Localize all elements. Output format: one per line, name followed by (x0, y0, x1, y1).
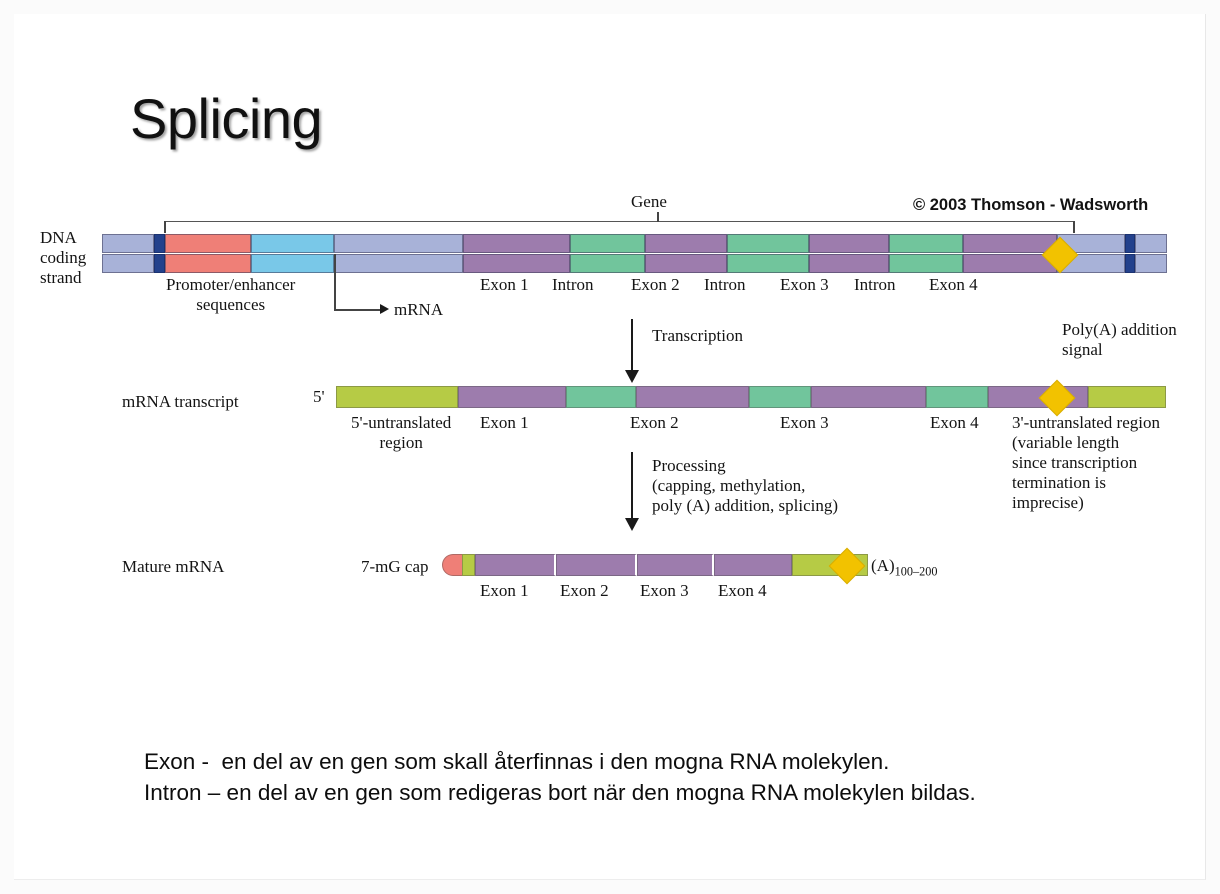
dna-seg-exon-4 (963, 234, 1057, 253)
dna-seg-5utr (251, 234, 334, 253)
dna2-seg-intron-3 (889, 254, 963, 273)
transcript-label-exon-2: Exon 2 (630, 413, 679, 433)
mrna-transcript-row-label: mRNA transcript (122, 392, 239, 412)
dna-label-exon-4: Exon 4 (929, 275, 978, 295)
dna-strand-top (102, 234, 1167, 253)
splicing-diagram: © 2003 Thomson - Wadsworth DNA coding st… (14, 184, 1206, 624)
caption-line-exon: Exon - en del av en gen som skall återfi… (144, 746, 976, 777)
mature-label-exon-2: Exon 2 (560, 581, 609, 601)
transcript-seg-3utr (1088, 386, 1166, 408)
cap-label: 7-mG cap (361, 557, 429, 577)
mature-mrna-row-label: Mature mRNA (122, 557, 224, 577)
dna-label-exon-3: Exon 3 (780, 275, 829, 295)
copyright-notice: © 2003 Thomson - Wadsworth (913, 196, 1148, 215)
dna-label-exon-1: Exon 1 (480, 275, 529, 295)
dna2-seg-leader (334, 254, 463, 273)
dna-seg-intron-2 (727, 234, 809, 253)
dna-seg-exon-2 (645, 234, 727, 253)
dna-seg-terminator (1125, 234, 1135, 253)
utr3-label: 3'-untranslated region (variable length … (1012, 413, 1160, 513)
dna2-seg-exon-2 (645, 254, 727, 273)
dna-strand-bottom (102, 254, 1167, 273)
caption-block: Exon - en del av en gen som skall återfi… (144, 746, 976, 808)
transcript-seg-exon-1 (458, 386, 566, 408)
dna2-seg-tss-marker (154, 254, 165, 273)
dna-seg-intron-3 (889, 234, 963, 253)
transcript-label-exon-4: Exon 4 (930, 413, 979, 433)
polya-tail-text: (A) (871, 556, 895, 575)
page-title: Splicing (130, 86, 322, 151)
dna-label-intron-1: Intron (552, 275, 594, 295)
dna2-seg-intron-1 (570, 254, 645, 273)
dna-seg-exon-1 (463, 234, 570, 253)
mrna-start-arrow-elbow (334, 309, 382, 311)
promoter-enhancer-label: Promoter/enhancer sequences (166, 275, 295, 315)
dna2-seg-intron-2 (727, 254, 809, 273)
processing-arrowhead (625, 518, 639, 531)
dna2-seg-terminator (1125, 254, 1135, 273)
gene-bracket-right-tick (1073, 221, 1075, 233)
gene-bracket-left-tick (164, 221, 166, 233)
mature-label-exon-1: Exon 1 (480, 581, 529, 601)
transcript-seg-intron-3 (926, 386, 988, 408)
dna-seg-promoter (165, 234, 251, 253)
dna-seg-downstream (1135, 234, 1167, 253)
mrna-start-arrowhead (380, 304, 389, 314)
dna-seg-upstream (102, 234, 154, 253)
transcription-arrowhead (625, 370, 639, 383)
dna2-seg-upstream (102, 254, 154, 273)
polya-tail-subscript: 100–200 (895, 564, 938, 578)
gene-bracket-center-tick (657, 212, 659, 222)
mature-mrna-bar (462, 554, 868, 576)
mature-seg-exon-4 (714, 554, 792, 576)
dna-seg-tss-marker (154, 234, 165, 253)
dna2-seg-5utr (251, 254, 334, 273)
mature-seg-exon-3 (637, 554, 714, 576)
dna-seg-exon-3 (809, 234, 889, 253)
dna2-seg-promoter (165, 254, 251, 273)
page-background: Splicing © 2003 Thomson - Wadsworth DNA … (0, 0, 1220, 894)
five-prime-label: 5' (313, 387, 325, 407)
transcript-seg-exon-3 (811, 386, 926, 408)
slide-canvas: Splicing © 2003 Thomson - Wadsworth DNA … (14, 14, 1206, 880)
mrna-start-label: mRNA (394, 300, 443, 320)
transcript-seg-intron-1 (566, 386, 636, 408)
mature-label-exon-4: Exon 4 (718, 581, 767, 601)
transcription-label: Transcription (652, 326, 743, 346)
mature-label-exon-3: Exon 3 (640, 581, 689, 601)
transcript-seg-exon-2 (636, 386, 749, 408)
dna2-seg-downstream (1135, 254, 1167, 273)
polya-tail-label: (A)100–200 (871, 556, 937, 581)
dna-seg-intron-1 (570, 234, 645, 253)
dna-coding-strand-label: DNA coding strand (40, 228, 86, 288)
mrna-start-arrow-stem (334, 254, 336, 309)
mature-seg-cap-stub (462, 554, 475, 576)
gene-bracket-line (164, 221, 1074, 222)
gene-bracket-label: Gene (631, 192, 667, 212)
transcript-seg-5utr (336, 386, 458, 408)
processing-arrow-stem (631, 452, 633, 520)
dna-label-intron-3: Intron (854, 275, 896, 295)
transcript-seg-intron-2 (749, 386, 811, 408)
mature-seg-exon-1 (475, 554, 556, 576)
transcript-label-exon-1: Exon 1 (480, 413, 529, 433)
polya-addition-signal-label: Poly(A) addition signal (1062, 320, 1177, 360)
transcription-arrow-stem (631, 319, 633, 372)
mature-seg-exon-2 (556, 554, 637, 576)
dna-label-exon-2: Exon 2 (631, 275, 680, 295)
dna2-seg-exon-1 (463, 254, 570, 273)
dna2-seg-exon-3 (809, 254, 889, 273)
dna-seg-leader (334, 234, 463, 253)
dna-label-intron-2: Intron (704, 275, 746, 295)
utr5-label: 5'-untranslated region (351, 413, 451, 453)
transcript-label-exon-3: Exon 3 (780, 413, 829, 433)
processing-label: Processing (capping, methylation, poly (… (652, 456, 838, 516)
seven-mg-cap-shape (442, 554, 464, 576)
caption-line-intron: Intron – en del av en gen som redigeras … (144, 777, 976, 808)
